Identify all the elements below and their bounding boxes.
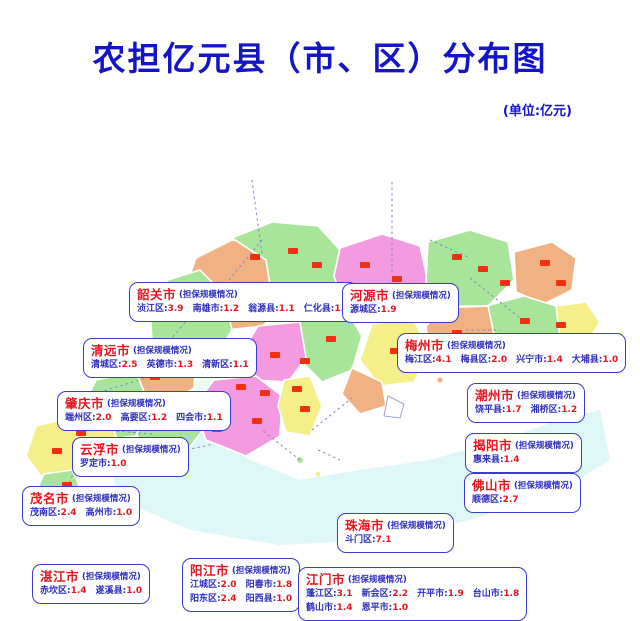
callout-note: (担保规模情况)	[179, 289, 238, 302]
entry: 台山市:1.8	[473, 588, 520, 600]
entry: 饶平县:1.7	[475, 404, 522, 416]
callout-foshan[interactable]: 佛山市(担保规模情况) 顺德区:2.7	[464, 473, 581, 513]
callout-zhanjiang[interactable]: 湛江市(担保规模情况) 赤坎区:1.4遂溪县:1.0	[32, 564, 150, 604]
callout-note: (担保规模情况)	[348, 574, 407, 587]
callout-row: 饶平县:1.7湘桥区:1.2	[475, 404, 577, 418]
entry: 梅江区:4.1	[405, 354, 452, 366]
callout-city-name: 阳江市	[190, 564, 229, 577]
entry: 清新区:1.1	[202, 359, 249, 371]
callout-row: 江城区:2.0阳春市:1.8	[190, 579, 292, 593]
entry: 蓬江区:3.1	[306, 588, 353, 600]
guangdong-map: 韶关市(担保规模情况) 浈江区:3.9南雄市:1.2翁源县:1.1仁化县:1.0…	[0, 130, 640, 550]
callout-row: 斗门区:7.1	[345, 534, 446, 548]
entry: 遂溪县:1.0	[96, 585, 143, 597]
entry: 南雄市:1.2	[193, 303, 240, 315]
callout-maoming[interactable]: 茂名市(担保规模情况) 茂南区:2.4高州市:1.0	[22, 486, 140, 526]
entry: 四会市:1.1	[176, 412, 223, 424]
callout-city-name: 茂名市	[30, 492, 69, 505]
entry: 梅县区:2.0	[461, 354, 508, 366]
callout-note: (担保规模情况)	[133, 345, 192, 358]
entry: 新会区:2.2	[362, 588, 409, 600]
callout-shaoguan[interactable]: 韶关市(担保规模情况) 浈江区:3.9南雄市:1.2翁源县:1.1仁化县:1.0	[129, 282, 358, 322]
callout-city-name: 梅州市	[405, 339, 444, 352]
entry: 赤坎区:1.4	[40, 585, 87, 597]
callout-row: 蓬江区:3.1新会区:2.2开平市:1.9台山市:1.8	[306, 588, 519, 602]
callout-city-name: 揭阳市	[473, 439, 512, 452]
unit-note: (单位:亿元)	[503, 100, 572, 119]
entry: 湘桥区:1.2	[531, 404, 578, 416]
entry: 阳春市:1.8	[246, 579, 293, 591]
callout-note: (担保规模情况)	[517, 390, 576, 403]
poster-root: 农担亿元县（市、区）分布图 (单位:亿元)	[0, 0, 640, 553]
callout-city-name: 佛山市	[472, 479, 511, 492]
callout-city-name: 江门市	[306, 573, 345, 586]
callout-row: 顺德区:2.7	[472, 494, 573, 508]
entry: 兴宁市:1.4	[516, 354, 563, 366]
entry: 源城区:1.9	[350, 304, 397, 316]
callout-city-name: 珠海市	[345, 519, 384, 532]
entry: 阳西县:1.0	[246, 593, 293, 605]
callout-row: 清城区:2.5英德市:1.3清新区:1.1	[91, 359, 249, 373]
callout-row: 赤坎区:1.4遂溪县:1.0	[40, 585, 142, 599]
callout-yangjiang[interactable]: 阳江市(担保规模情况) 江城区:2.0阳春市:1.8 阳东区:2.4阳西县:1.…	[182, 558, 300, 612]
callout-note: (担保规模情况)	[82, 571, 141, 584]
callout-qingyuan[interactable]: 清远市(担保规模情况) 清城区:2.5英德市:1.3清新区:1.1	[83, 338, 257, 378]
entry: 阳东区:2.4	[190, 593, 237, 605]
callout-row: 浈江区:3.9南雄市:1.2翁源县:1.1仁化县:1.0	[137, 303, 350, 317]
callout-city-name: 云浮市	[80, 443, 119, 456]
page-title: 农担亿元县（市、区）分布图	[0, 40, 640, 78]
entry: 鹤山市:1.4	[306, 602, 353, 614]
callout-row: 端州区:2.0高要区:1.2四会市:1.1	[65, 412, 223, 426]
callout-city-name: 河源市	[350, 289, 389, 302]
callout-jiangmen[interactable]: 江门市(担保规模情况) 蓬江区:3.1新会区:2.2开平市:1.9台山市:1.8…	[298, 567, 527, 621]
callout-note: (担保规模情况)	[447, 340, 506, 353]
callout-zhaoqing[interactable]: 肇庆市(担保规模情况) 端州区:2.0高要区:1.2四会市:1.1	[57, 391, 231, 431]
callout-note: (担保规模情况)	[107, 398, 166, 411]
callout-row: 惠来县:1.4	[473, 454, 574, 468]
callout-note: (担保规模情况)	[515, 440, 574, 453]
callout-row: 鹤山市:1.4恩平市:1.0	[306, 602, 519, 616]
callout-note: (担保规模情况)	[387, 520, 446, 533]
callout-note: (担保规模情况)	[232, 565, 291, 578]
entry: 罗定市:1.0	[80, 458, 127, 470]
entry: 恩平市:1.0	[362, 602, 409, 614]
callout-row: 梅江区:4.1梅县区:2.0兴宁市:1.4大埔县:1.0	[405, 354, 618, 368]
entry: 斗门区:7.1	[345, 534, 392, 546]
callout-city-name: 潮州市	[475, 389, 514, 402]
entry: 顺德区:2.7	[472, 494, 519, 506]
entry: 开平市:1.9	[417, 588, 464, 600]
callout-note: (担保规模情况)	[514, 480, 573, 493]
entry: 浈江区:3.9	[137, 303, 184, 315]
entry: 端州区:2.0	[65, 412, 112, 424]
callout-heyuan[interactable]: 河源市(担保规模情况) 源城区:1.9	[342, 283, 459, 323]
entry: 翁源县:1.1	[248, 303, 295, 315]
callout-note: (担保规模情况)	[72, 493, 131, 506]
callout-zhuhai[interactable]: 珠海市(担保规模情况) 斗门区:7.1	[337, 513, 454, 553]
callout-city-name: 肇庆市	[65, 397, 104, 410]
callout-city-name: 清远市	[91, 344, 130, 357]
entry: 江城区:2.0	[190, 579, 237, 591]
callout-jieyang[interactable]: 揭阳市(担保规模情况) 惠来县:1.4	[465, 433, 582, 473]
callout-row: 阳东区:2.4阳西县:1.0	[190, 593, 292, 607]
callout-city-name: 湛江市	[40, 570, 79, 583]
entry: 大埔县:1.0	[572, 354, 619, 366]
callout-row: 茂南区:2.4高州市:1.0	[30, 507, 132, 521]
entry: 茂南区:2.4	[30, 507, 77, 519]
callout-rows: 浈江区:3.9南雄市:1.2翁源县:1.1仁化县:1.0	[137, 303, 350, 317]
callout-city-name: 韶关市	[137, 288, 176, 301]
entry: 惠来县:1.4	[473, 454, 520, 466]
callout-note: (担保规模情况)	[392, 290, 451, 303]
entry: 高要区:1.2	[121, 412, 168, 424]
entry: 清城区:2.5	[91, 359, 138, 371]
callout-note: (担保规模情况)	[122, 444, 181, 457]
entry: 高州市:1.0	[86, 507, 133, 519]
callout-head: 韶关市(担保规模情况)	[137, 286, 350, 302]
entry: 英德市:1.3	[147, 359, 194, 371]
callout-row: 源城区:1.9	[350, 304, 451, 318]
callout-chaozhou[interactable]: 潮州市(担保规模情况) 饶平县:1.7湘桥区:1.2	[467, 383, 585, 423]
callout-yunfu[interactable]: 云浮市(担保规模情况) 罗定市:1.0	[72, 437, 189, 477]
callout-meizhou[interactable]: 梅州市(担保规模情况) 梅江区:4.1梅县区:2.0兴宁市:1.4大埔县:1.0	[397, 333, 626, 373]
callout-row: 罗定市:1.0	[80, 458, 181, 472]
